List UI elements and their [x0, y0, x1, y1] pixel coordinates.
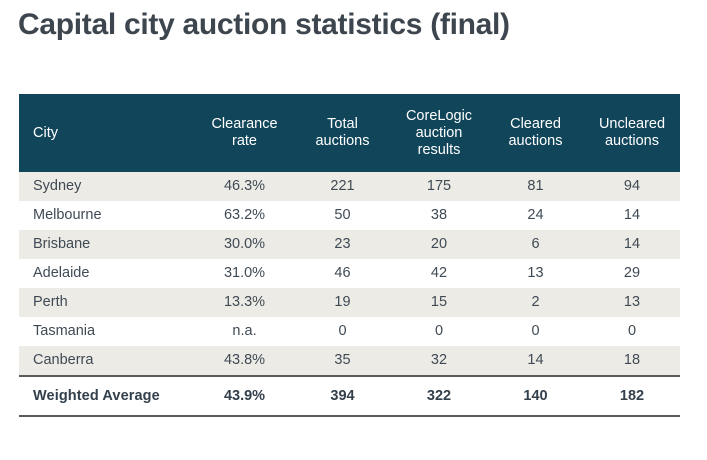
cell-total-auctions: 221 [294, 172, 391, 201]
column-header-cleared-auctions-line-2: auctions [508, 133, 562, 149]
column-header-total-auctions: Total auctions [294, 94, 391, 172]
table-row: Perth 13.3% 19 15 2 13 [19, 288, 680, 317]
cell-total-auctions: 394 [294, 376, 391, 416]
cell-city: Canberra [19, 346, 195, 376]
column-header-city: City [19, 94, 195, 172]
cell-cleared-auctions: 0 [487, 317, 584, 346]
column-header-cleared-auctions-line-1: Cleared [510, 116, 561, 132]
cell-clearance-rate: 43.9% [195, 376, 294, 416]
column-header-corelogic-results: CoreLogic auction results [391, 94, 487, 172]
column-header-uncleared-auctions-line-2: auctions [605, 133, 659, 149]
cell-total-auctions: 23 [294, 230, 391, 259]
table-row: Brisbane 30.0% 23 20 6 14 [19, 230, 680, 259]
cell-clearance-rate: 13.3% [195, 288, 294, 317]
cell-cleared-auctions: 81 [487, 172, 584, 201]
cell-clearance-rate: 31.0% [195, 259, 294, 288]
cell-cleared-auctions: 2 [487, 288, 584, 317]
cell-total-auctions: 19 [294, 288, 391, 317]
cell-total-auctions: 0 [294, 317, 391, 346]
weighted-average-row: Weighted Average 43.9% 394 322 140 182 [19, 376, 680, 416]
page-title: Capital city auction statistics (final) [18, 6, 510, 44]
cell-total-auctions: 35 [294, 346, 391, 376]
cell-uncleared-auctions: 14 [584, 201, 680, 230]
cell-city: Brisbane [19, 230, 195, 259]
cell-city: Melbourne [19, 201, 195, 230]
cell-total-auctions: 50 [294, 201, 391, 230]
cell-corelogic-results: 322 [391, 376, 487, 416]
cell-clearance-rate: 30.0% [195, 230, 294, 259]
cell-uncleared-auctions: 14 [584, 230, 680, 259]
cell-cleared-auctions: 6 [487, 230, 584, 259]
column-header-corelogic-results-line-1: CoreLogic [406, 108, 472, 124]
auction-statistics-table: City Clearance rate Total auctions CoreL… [19, 94, 680, 417]
cell-uncleared-auctions: 182 [584, 376, 680, 416]
cell-city: Tasmania [19, 317, 195, 346]
cell-cleared-auctions: 13 [487, 259, 584, 288]
cell-clearance-rate: 46.3% [195, 172, 294, 201]
cell-corelogic-results: 15 [391, 288, 487, 317]
table-body: Sydney 46.3% 221 175 81 94 Melbourne 63.… [19, 172, 680, 416]
cell-city: Adelaide [19, 259, 195, 288]
column-header-cleared-auctions: Cleared auctions [487, 94, 584, 172]
table-row: Tasmania n.a. 0 0 0 0 [19, 317, 680, 346]
cell-uncleared-auctions: 13 [584, 288, 680, 317]
cell-city: Sydney [19, 172, 195, 201]
column-header-uncleared-auctions-line-1: Uncleared [599, 116, 665, 132]
table-row: Canberra 43.8% 35 32 14 18 [19, 346, 680, 376]
cell-clearance-rate: 43.8% [195, 346, 294, 376]
cell-uncleared-auctions: 29 [584, 259, 680, 288]
cell-clearance-rate: n.a. [195, 317, 294, 346]
column-header-clearance-rate-line-1: Clearance [211, 116, 277, 132]
table-row: Sydney 46.3% 221 175 81 94 [19, 172, 680, 201]
column-header-corelogic-results-line-3: results [418, 142, 461, 158]
cell-city: Perth [19, 288, 195, 317]
cell-corelogic-results: 20 [391, 230, 487, 259]
table-header-row: City Clearance rate Total auctions CoreL… [19, 94, 680, 172]
cell-cleared-auctions: 140 [487, 376, 584, 416]
cell-corelogic-results: 175 [391, 172, 487, 201]
cell-uncleared-auctions: 94 [584, 172, 680, 201]
cell-cleared-auctions: 14 [487, 346, 584, 376]
cell-clearance-rate: 63.2% [195, 201, 294, 230]
cell-corelogic-results: 42 [391, 259, 487, 288]
table-row: Adelaide 31.0% 46 42 13 29 [19, 259, 680, 288]
page-root: Capital city auction statistics (final) … [0, 0, 707, 460]
cell-corelogic-results: 32 [391, 346, 487, 376]
cell-corelogic-results: 38 [391, 201, 487, 230]
auction-statistics-table-container: City Clearance rate Total auctions CoreL… [19, 94, 680, 417]
table-row: Melbourne 63.2% 50 38 24 14 [19, 201, 680, 230]
column-header-uncleared-auctions: Uncleared auctions [584, 94, 680, 172]
column-header-clearance-rate-line-2: rate [232, 133, 257, 149]
table-header: City Clearance rate Total auctions CoreL… [19, 94, 680, 172]
cell-uncleared-auctions: 0 [584, 317, 680, 346]
cell-corelogic-results: 0 [391, 317, 487, 346]
column-header-corelogic-results-line-2: auction [416, 125, 463, 141]
column-header-total-auctions-line-2: auctions [315, 133, 369, 149]
column-header-total-auctions-line-1: Total [327, 116, 358, 132]
cell-total-auctions: 46 [294, 259, 391, 288]
cell-uncleared-auctions: 18 [584, 346, 680, 376]
cell-cleared-auctions: 24 [487, 201, 584, 230]
column-header-clearance-rate: Clearance rate [195, 94, 294, 172]
cell-city: Weighted Average [19, 376, 195, 416]
